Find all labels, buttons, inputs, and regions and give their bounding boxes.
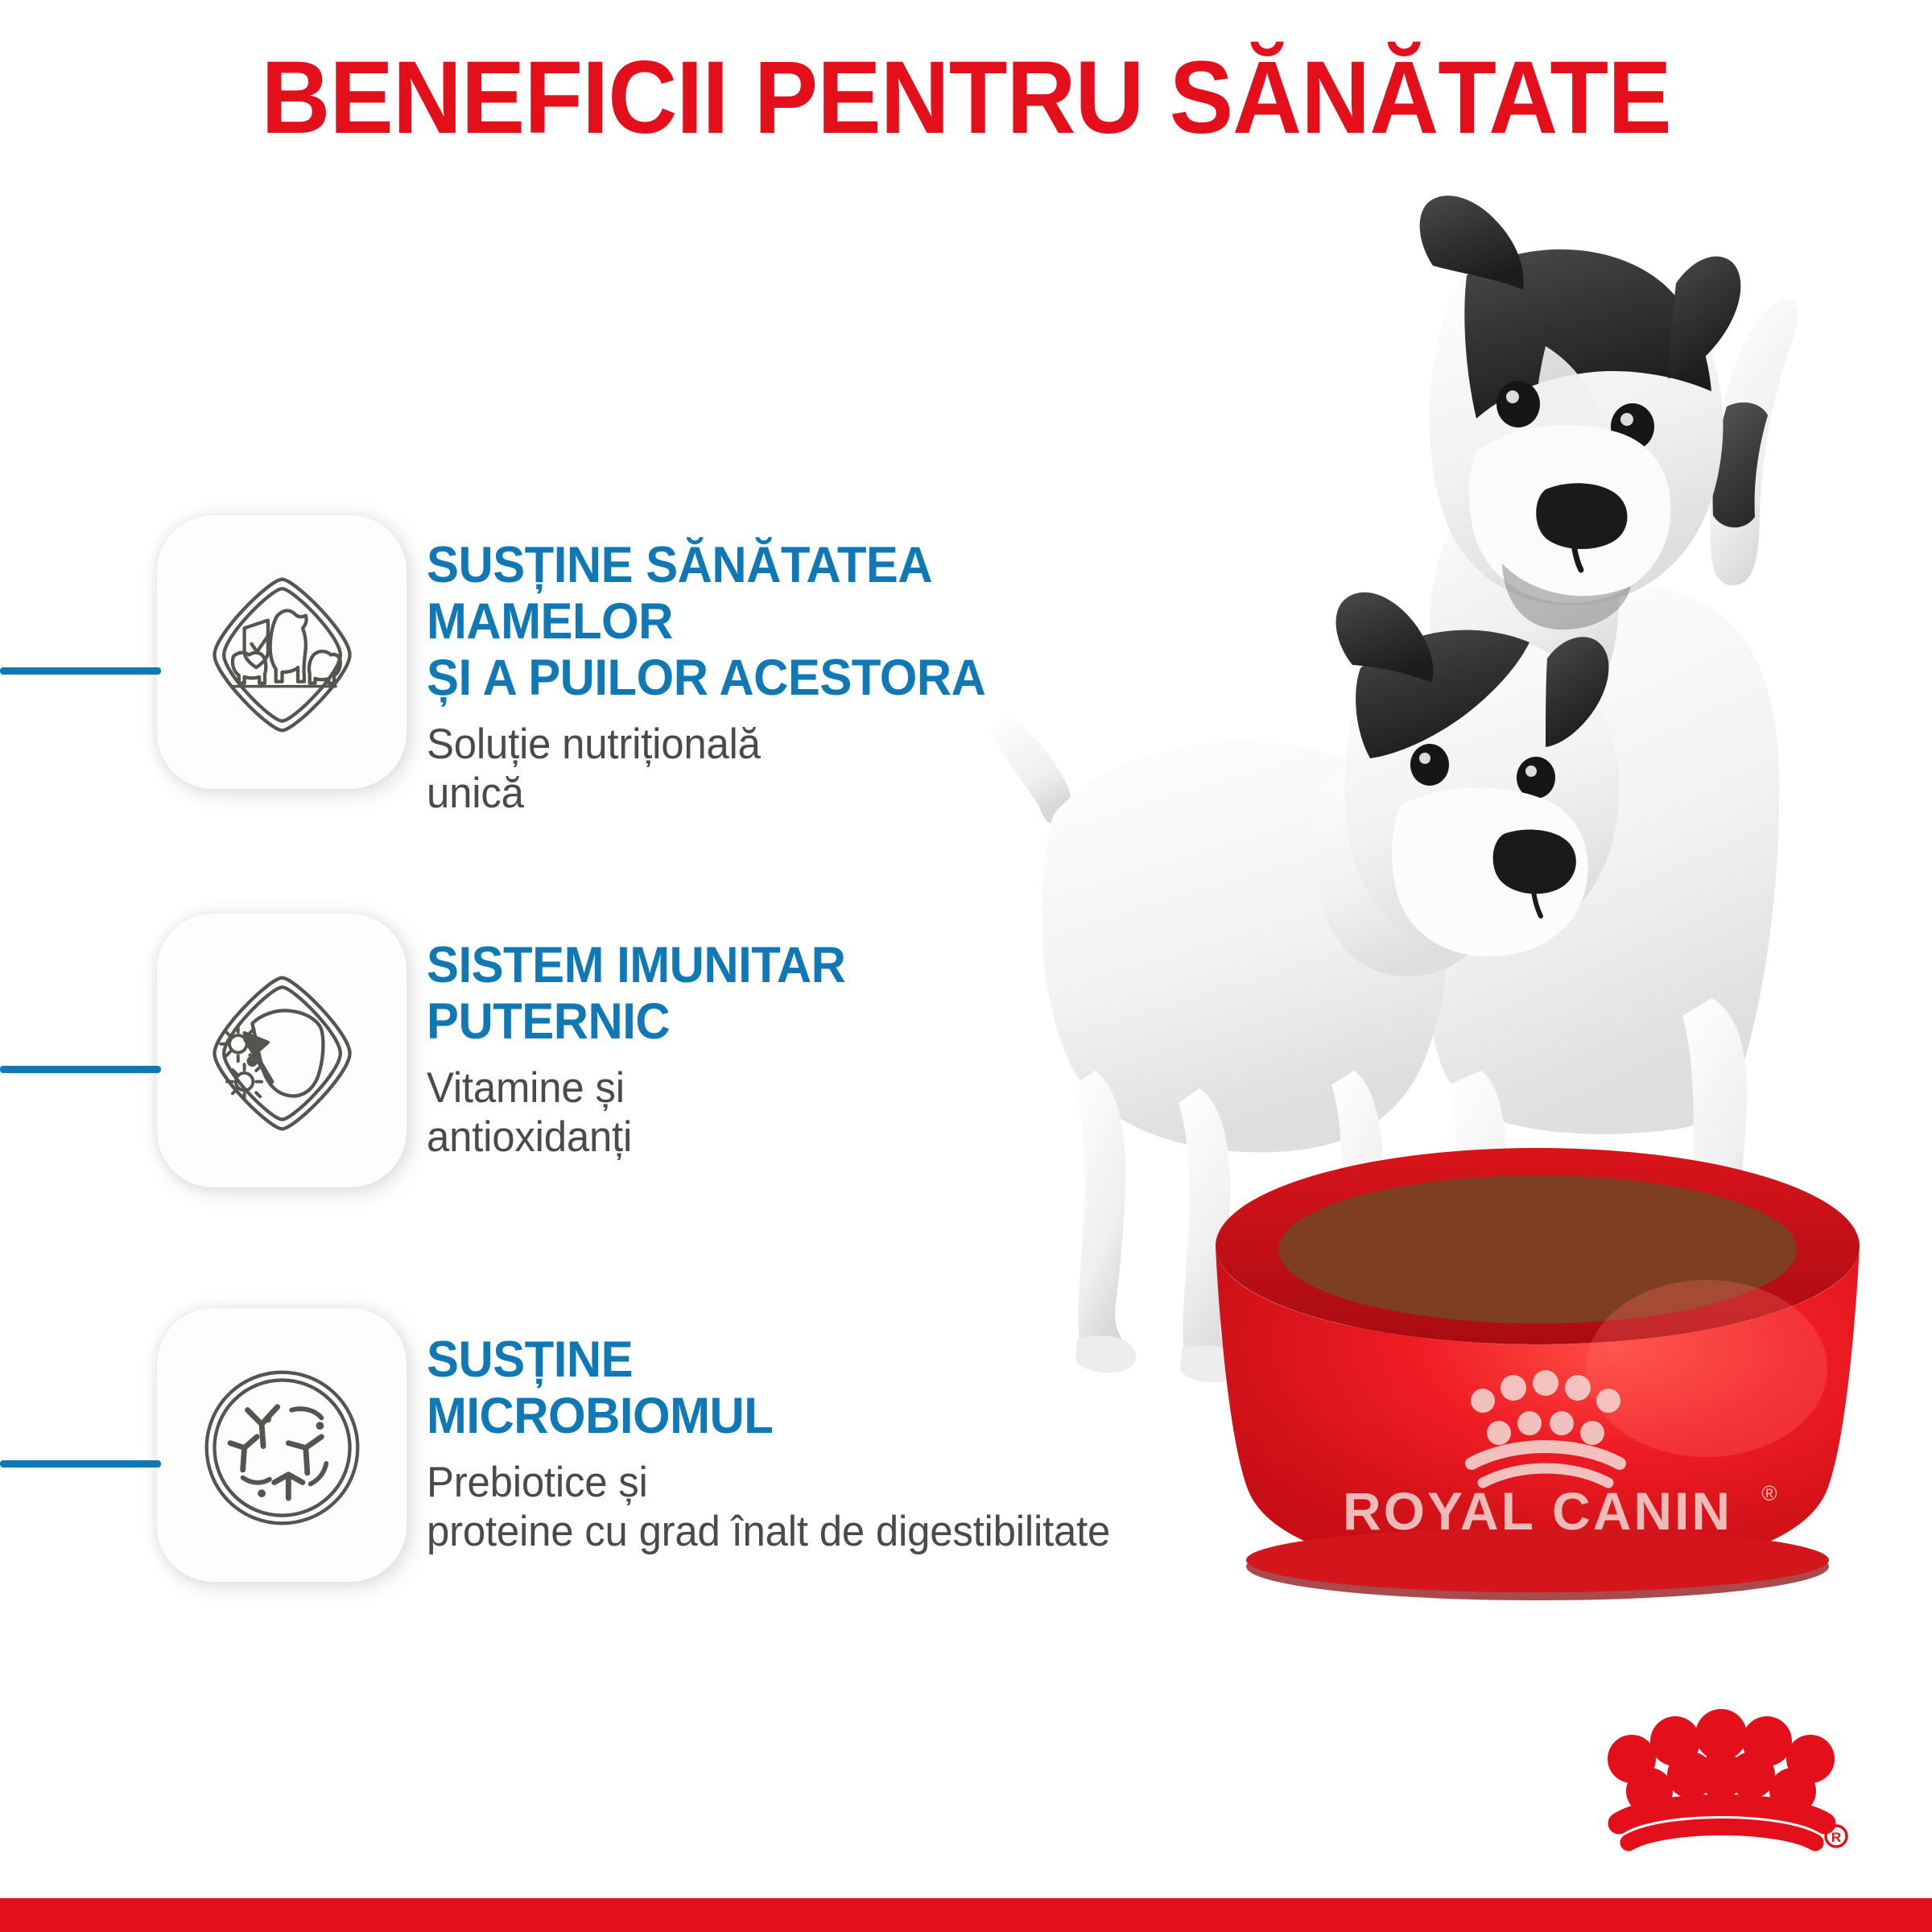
bowl-trademark: ® [1761, 1481, 1777, 1505]
connector-line-2 [0, 1066, 161, 1073]
bowl-royal-canin-mark [1471, 1370, 1620, 1483]
mother-dog-puppies-shield-icon [181, 562, 382, 747]
benefit-description-2: Vitamine și antioxidanți [427, 1063, 1137, 1162]
royal-canin-crown-logo: R [1590, 1678, 1856, 1864]
red-food-bowl: ROYAL CANIN ® [1216, 1148, 1860, 1600]
bowl-brand-text: ROYAL CANIN [1343, 1481, 1732, 1541]
microbiome-bacteria-icon [181, 1355, 382, 1540]
benefit-heading-3: SUSȚINE MICROBIOMUL [427, 1332, 1130, 1445]
trademark-symbol: R [1826, 1826, 1847, 1847]
benefit-description-3: Prebiotice și proteine cu grad înalt de … [427, 1458, 1137, 1557]
kibble [1288, 1155, 1787, 1332]
footer-red-bar [0, 1898, 1932, 1932]
shield-germs-immune-icon [181, 960, 382, 1146]
benefit-text-1: SUSȚINE SĂNĂTATEA MAMELOR ȘI A PUILOR AC… [427, 538, 1167, 819]
benefit-text-3: SUSȚINE MICROBIOMUL Prebiotice și protei… [427, 1332, 1167, 1557]
benefit-text-2: SISTEM IMUNITAR PUTERNIC Vitamine și ant… [427, 938, 1167, 1162]
benefit-heading-1: SUSȚINE SĂNĂTATEA MAMELOR ȘI A PUILOR AC… [427, 538, 1130, 707]
benefit-heading-2: SISTEM IMUNITAR PUTERNIC [427, 938, 1130, 1051]
adult-dog [1420, 196, 1798, 1402]
benefit-description-1: Soluție nutrițională unică [427, 720, 1137, 819]
connector-line-3 [0, 1460, 161, 1468]
connector-line-1 [0, 667, 161, 675]
benefits-list: SUSȚINE SĂNĂTATEA MAMELOR ȘI A PUILOR AC… [0, 0, 1207, 1932]
svg-text:R: R [1831, 1830, 1841, 1845]
